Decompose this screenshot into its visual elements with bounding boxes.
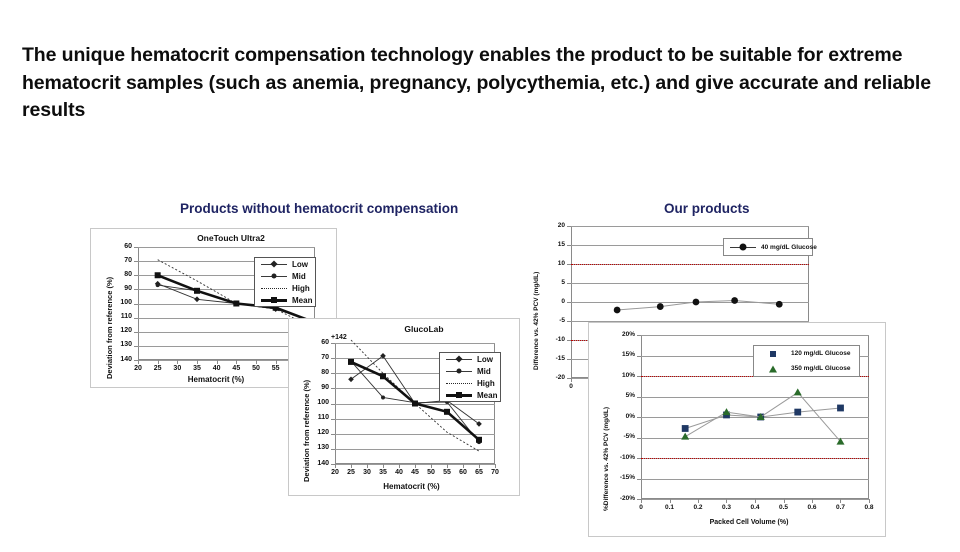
- legend-onetouch: Low Mid High Mean: [254, 257, 316, 307]
- y-tick-label: -20: [525, 374, 565, 381]
- slide-canvas: The unique hematocrit compensation techn…: [0, 0, 960, 552]
- y-tick-label: 90: [289, 384, 329, 391]
- x-axis-label-ours-120-350: Packed Cell Volume (%): [634, 519, 864, 526]
- legend-key-mid: [446, 366, 472, 376]
- legend-key-mean: [261, 295, 287, 305]
- chart-annotation-glucolab: +142: [331, 334, 347, 341]
- legend-key-high: [261, 283, 287, 293]
- legend-key-mid: [261, 271, 287, 281]
- legend-label: Mean: [292, 296, 312, 305]
- x-tick-label: 0.6: [796, 504, 828, 511]
- y-tick-label: 10: [525, 260, 565, 267]
- y-tick-label: 110: [289, 414, 329, 421]
- legend-label: High: [477, 379, 495, 388]
- legend-key-low: [446, 354, 472, 364]
- legend-key-mean: [446, 390, 472, 400]
- x-tick-label: 0: [625, 504, 657, 511]
- legend-item: High: [255, 282, 315, 294]
- y-tick-label: 80: [289, 369, 329, 376]
- legend-key-120: [760, 349, 786, 359]
- y-tick-label: -10: [525, 336, 565, 343]
- legend-label: Mid: [292, 272, 306, 281]
- y-tick-label: 20: [525, 222, 565, 229]
- y-tick-label: 100: [289, 399, 329, 406]
- legend-label: Low: [292, 260, 308, 269]
- y-tick-label: 110: [92, 313, 132, 320]
- y-tick-label: 5: [525, 279, 565, 286]
- legend-ours-40: 40 mg/dL Glucose: [723, 238, 813, 256]
- legend-label: 40 mg/dL Glucose: [761, 244, 817, 251]
- x-axis-label-onetouch: Hematocrit (%): [136, 375, 296, 384]
- y-tick-label: -10%: [595, 454, 635, 461]
- y-tick-label: -20%: [595, 495, 635, 502]
- legend-label: Mid: [477, 367, 491, 376]
- x-tick-label: 0.4: [739, 504, 771, 511]
- legend-label: High: [292, 284, 310, 293]
- y-tick-label: 140: [289, 460, 329, 467]
- y-tick-label: 120: [289, 429, 329, 436]
- x-tick-label: 0.7: [825, 504, 857, 511]
- x-tick-label: 0.8: [853, 504, 885, 511]
- y-tick-label: 100: [92, 299, 132, 306]
- chart-panel-glucolab: GlucoLab +142 Deviation from reference (…: [288, 318, 520, 496]
- y-tick-label: 140: [92, 356, 132, 363]
- legend-item: 350 mg/dL Glucose: [754, 361, 859, 376]
- legend-item: Low: [255, 258, 315, 270]
- x-tick-label: 70: [479, 469, 511, 476]
- y-tick-label: 60: [92, 243, 132, 250]
- legend-item: Low: [440, 353, 500, 365]
- y-tick-label: 90: [92, 285, 132, 292]
- y-tick-label: 80: [92, 271, 132, 278]
- legend-item: 120 mg/dL Glucose: [754, 346, 859, 361]
- y-tick-label: 0: [525, 298, 565, 305]
- y-tick-label: 60: [289, 339, 329, 346]
- y-tick-label: 20%: [595, 331, 635, 338]
- legend-item: 40 mg/dL Glucose: [724, 239, 812, 255]
- x-tick-label: 0.5: [768, 504, 800, 511]
- y-tick-label: 15%: [595, 351, 635, 358]
- y-tick-label: 5%: [595, 392, 635, 399]
- y-tick-label: 130: [289, 444, 329, 451]
- legend-ours-120-350: 120 mg/dL Glucose 350 mg/dL Glucose: [753, 345, 860, 377]
- legend-item: Mean: [255, 294, 315, 306]
- x-tick-label: 0: [555, 383, 587, 390]
- legend-item: Mean: [440, 389, 500, 401]
- page-headline: The unique hematocrit compensation techn…: [22, 42, 942, 125]
- chart-title-glucolab: GlucoLab: [349, 324, 499, 334]
- y-tick-label: -15%: [595, 474, 635, 481]
- y-tick-label: 120: [92, 327, 132, 334]
- y-tick-label: -5: [525, 317, 565, 324]
- legend-label: 120 mg/dL Glucose: [791, 350, 850, 357]
- y-tick-label: 70: [92, 257, 132, 264]
- legend-label: Mean: [477, 391, 497, 400]
- section-caption-left: Products without hematocrit compensation: [180, 201, 458, 216]
- y-tick-label: 70: [289, 354, 329, 361]
- legend-key-350: [760, 364, 786, 374]
- y-tick-label: -15: [525, 355, 565, 362]
- y-tick-label: -5%: [595, 433, 635, 440]
- x-tick-label: 0.2: [682, 504, 714, 511]
- legend-glucolab: Low Mid High Mean: [439, 352, 501, 402]
- x-tick-label: 0.1: [654, 504, 686, 511]
- legend-item: Mid: [255, 270, 315, 282]
- y-tick-label: 10%: [595, 372, 635, 379]
- legend-item: Mid: [440, 365, 500, 377]
- y-tick-label: 130: [92, 341, 132, 348]
- legend-item: High: [440, 377, 500, 389]
- legend-key-high: [446, 378, 472, 388]
- x-axis-label-glucolab: Hematocrit (%): [329, 482, 494, 491]
- legend-label: Low: [477, 355, 493, 364]
- chart-title-onetouch: OneTouch Ultra2: [151, 233, 311, 243]
- y-tick-label: 15: [525, 241, 565, 248]
- chart-panel-ours-120-350: %Difference vs. 42% PCV (mg/dL) Packed C…: [588, 322, 886, 537]
- legend-label: 350 mg/dL Glucose: [791, 365, 850, 372]
- legend-key-40: [730, 242, 756, 252]
- x-tick-label: 0.3: [711, 504, 743, 511]
- section-caption-right: Our products: [664, 201, 750, 216]
- legend-key-low: [261, 259, 287, 269]
- y-tick-label: 0%: [595, 413, 635, 420]
